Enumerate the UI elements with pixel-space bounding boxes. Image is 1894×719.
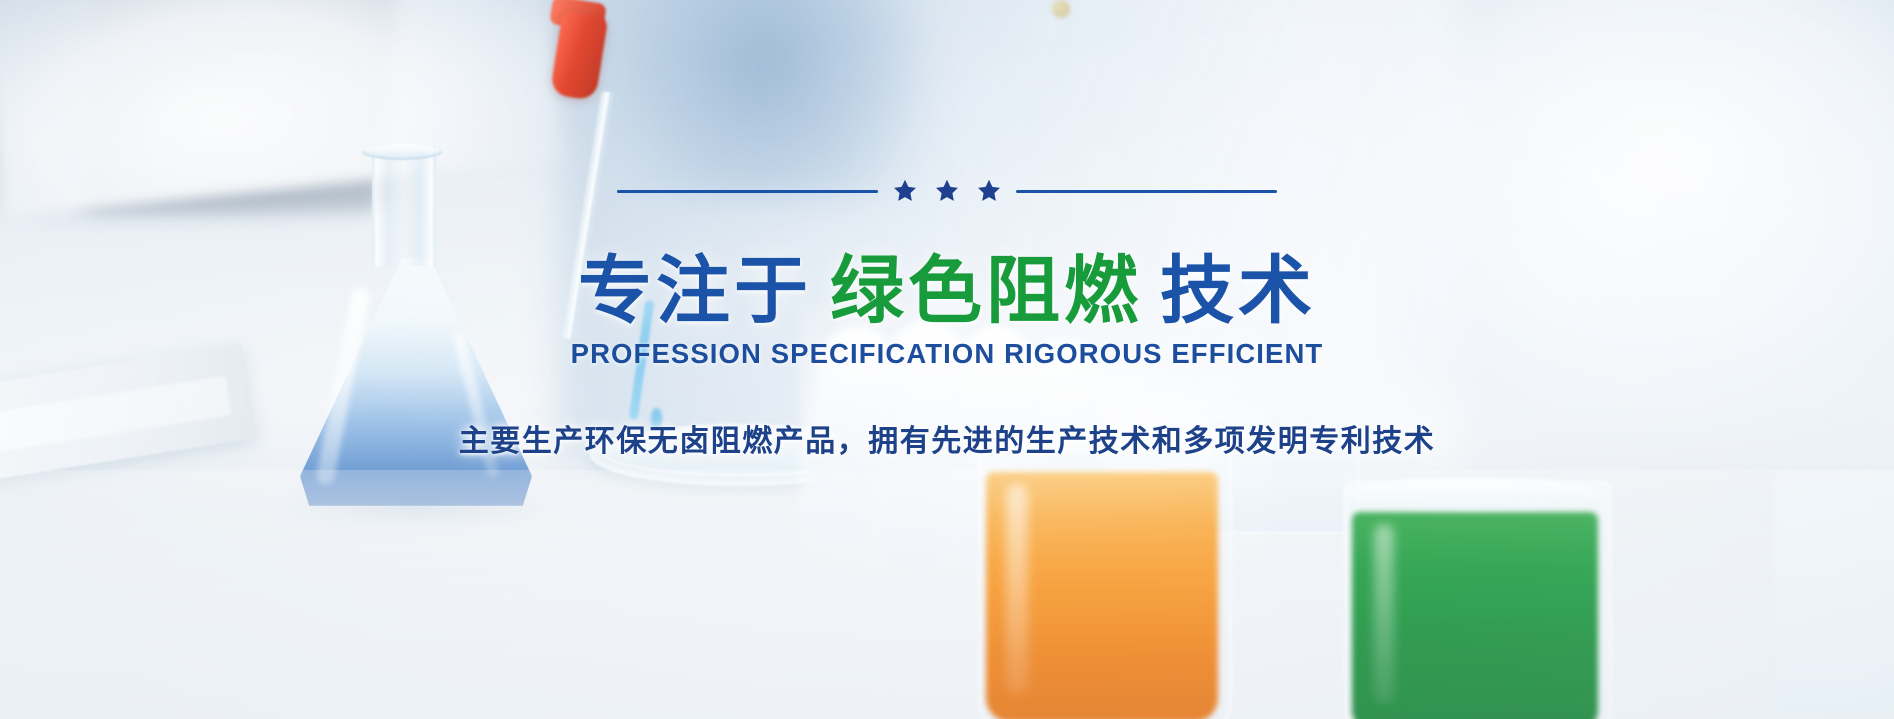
page-title: 专注于绿色阻燃技术 <box>578 250 1316 333</box>
banner-content: 专注于绿色阻燃技术 PROFESSION SPECIFICATION RIGOR… <box>0 0 1894 719</box>
title-part-1: 专注于 <box>578 248 812 334</box>
divider-line-right <box>1016 190 1277 193</box>
title-part-2: 绿色阻燃 <box>830 248 1142 334</box>
divider-line-left <box>617 190 878 193</box>
star-icon <box>892 178 918 204</box>
decorative-divider <box>617 178 1277 204</box>
star-group <box>892 178 1002 204</box>
english-subtitle: PROFESSION SPECIFICATION RIGOROUS EFFICI… <box>571 338 1324 370</box>
chinese-description: 主要生产环保无卤阻燃产品，拥有先进的生产技术和多项发明专利技术 <box>459 416 1436 460</box>
star-icon <box>934 178 960 204</box>
star-icon <box>976 178 1002 204</box>
hero-banner: 专注于绿色阻燃技术 PROFESSION SPECIFICATION RIGOR… <box>0 0 1894 719</box>
title-part-3: 技术 <box>1160 248 1316 334</box>
